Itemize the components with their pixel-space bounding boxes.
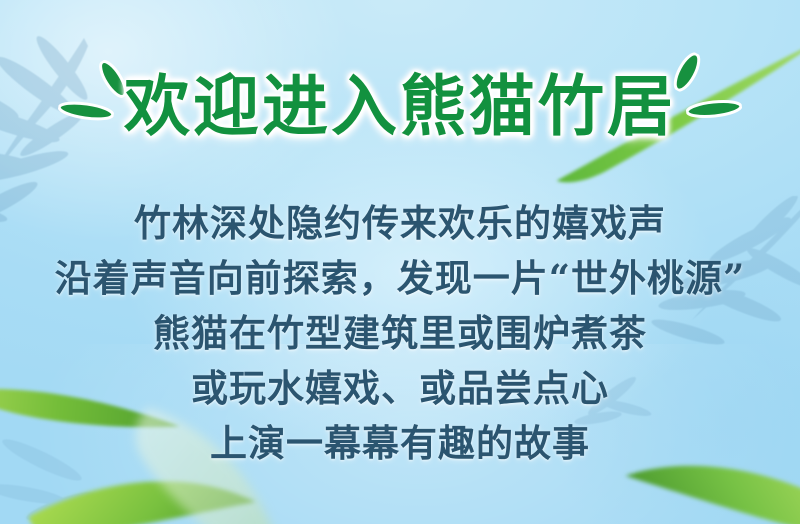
body-line-5: 上演一幕幕有趣的故事 — [0, 416, 800, 471]
body-line-3: 熊猫在竹型建筑里或围炉煮茶 — [0, 306, 800, 361]
page-title: 欢迎进入熊猫竹居 — [0, 54, 800, 158]
body-line-4: 或玩水嬉戏、或品尝点心 — [0, 361, 800, 416]
body-line-1: 竹林深处隐约传来欢乐的嬉戏声 — [0, 196, 800, 251]
body-copy: 竹林深处隐约传来欢乐的嬉戏声 沿着声音向前探索，发现一片“世外桃源” 熊猫在竹型… — [0, 196, 800, 471]
title-block: 欢迎进入熊猫竹居 — [0, 54, 800, 174]
body-line-2: 沿着声音向前探索，发现一片“世外桃源” — [0, 251, 800, 306]
panda-bamboo-house-poster: 欢迎进入熊猫竹居 竹林深处隐约传来欢乐的嬉戏声 沿着声音向前探索，发现一片“世外… — [0, 0, 800, 524]
